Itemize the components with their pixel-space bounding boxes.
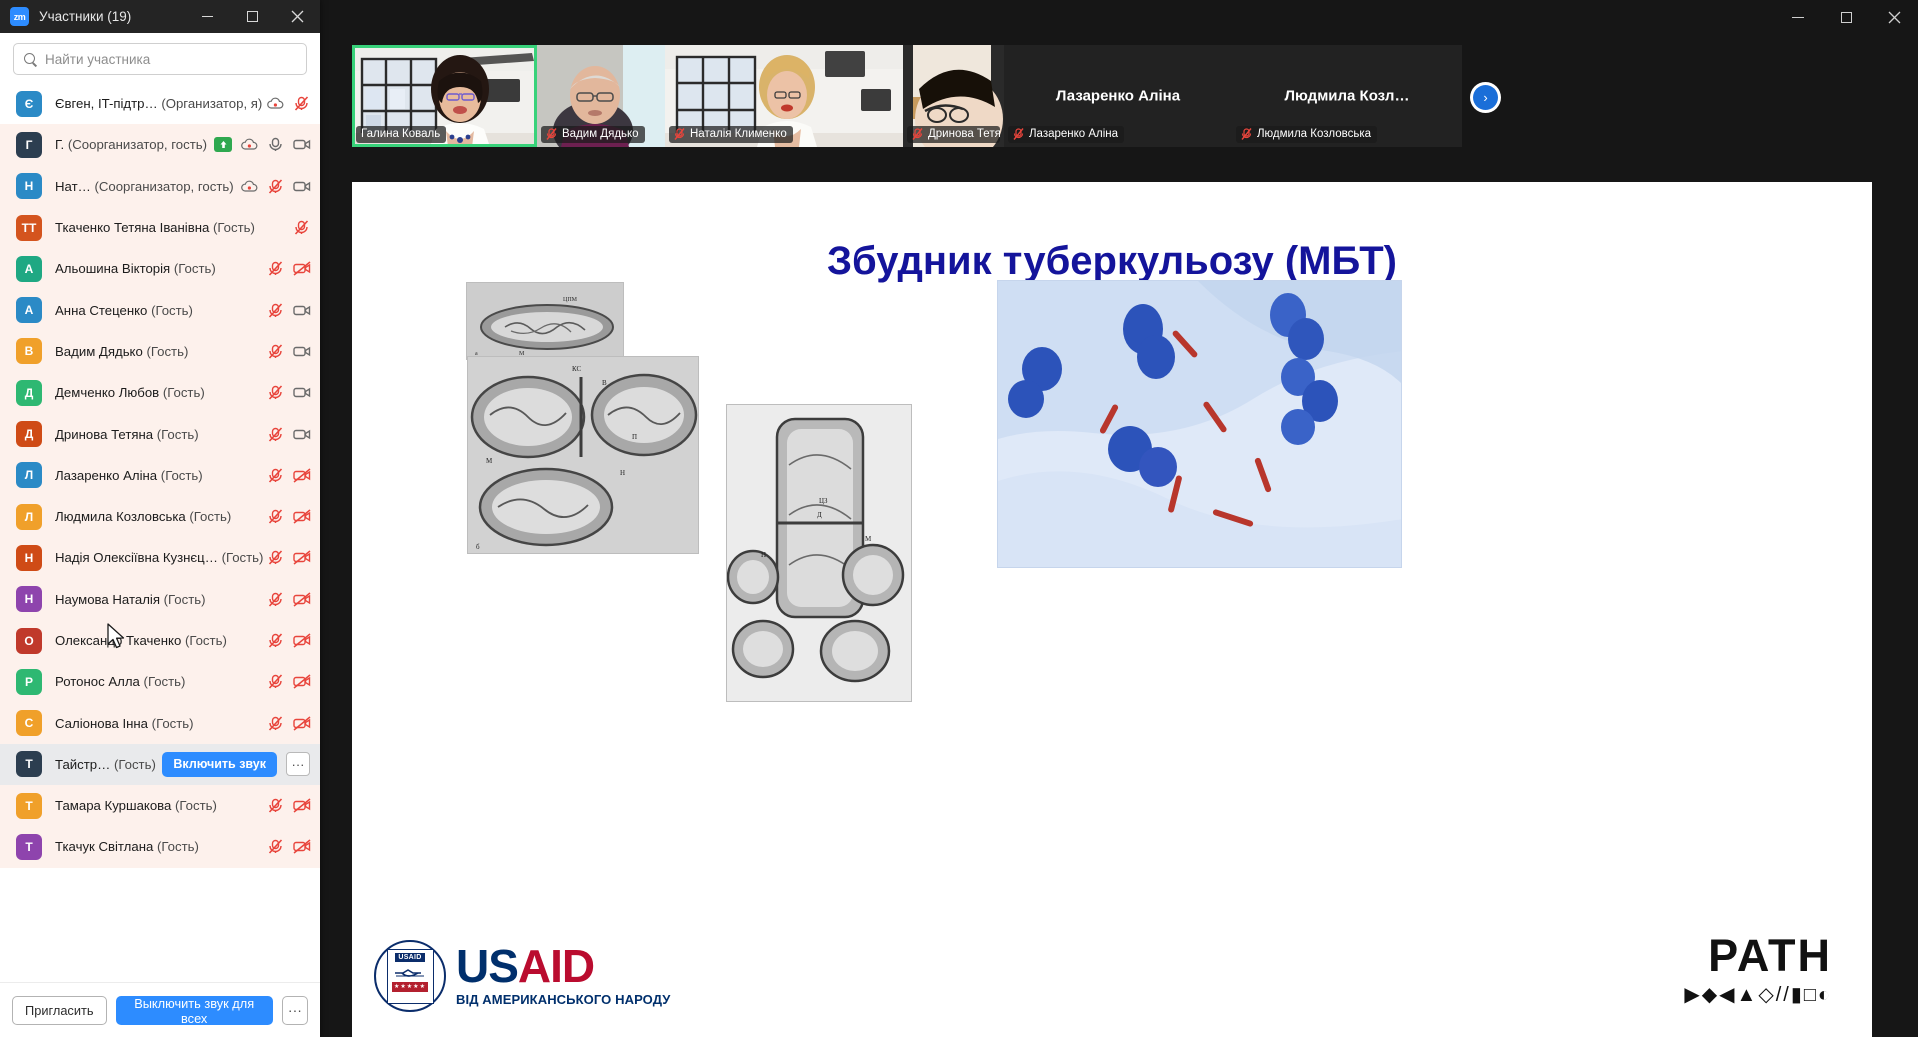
mic-muted-icon — [912, 128, 923, 140]
camera-off-icon[interactable] — [293, 261, 310, 276]
participant-row[interactable]: ЛЛюдмила Козловська (Гость) — [0, 496, 320, 537]
participant-status-icons — [267, 839, 310, 854]
participant-row[interactable]: ТТТкаченко Тетяна Іванівна (Гость) — [0, 207, 320, 248]
participant-avatar: Т — [16, 793, 42, 819]
usaid-word-us: US — [456, 940, 518, 992]
participant-status-icons — [267, 96, 310, 111]
participant-name: Ротонос Алла (Гость) — [55, 674, 185, 689]
participant-status-icons — [267, 261, 310, 276]
camera-off-icon[interactable] — [293, 798, 310, 813]
tile-name-label-2: Наталія Клименко — [669, 126, 793, 143]
usaid-wordmark: USAID — [456, 945, 670, 989]
participant-row[interactable]: ГГ. (Соорганизатор, гость) — [0, 124, 320, 165]
camera-off-icon[interactable] — [293, 550, 310, 565]
participant-status-icons — [267, 592, 310, 607]
participant-avatar: Н — [16, 173, 42, 199]
participant-status-icons — [267, 344, 310, 359]
video-tile-5[interactable]: Людмила Козл… Людмила Козловська — [1232, 45, 1462, 147]
participant-row[interactable]: ЄЄвген, IT-підтр… (Организатор, я) — [0, 83, 320, 124]
participant-name: Нат… (Соорганизатор, гость) — [55, 179, 234, 194]
participant-avatar: Л — [16, 504, 42, 530]
video-tile-0[interactable]: Галина Коваль — [352, 45, 537, 147]
participant-name: Лазаренко Аліна (Гость) — [55, 468, 203, 483]
camera-icon[interactable] — [293, 303, 310, 318]
participant-more-button[interactable]: ··· — [286, 752, 310, 776]
camera-off-icon[interactable] — [293, 468, 310, 483]
participant-avatar: Т — [16, 751, 42, 777]
mic-muted-icon[interactable] — [267, 179, 284, 194]
usaid-seal-stars: ★★★★★ — [392, 982, 428, 992]
unmute-button[interactable]: Включить звук — [162, 752, 277, 777]
mic-muted-icon[interactable] — [267, 592, 284, 607]
main-maximize-button[interactable] — [1822, 0, 1870, 34]
mic-muted-icon[interactable] — [293, 220, 310, 235]
participant-avatar: Т — [16, 834, 42, 860]
camera-off-icon[interactable] — [293, 509, 310, 524]
participant-avatar: ТТ — [16, 215, 42, 241]
participant-name: Г. (Соорганизатор, гость) — [55, 137, 207, 152]
svg-text:б: б — [476, 543, 480, 551]
camera-off-icon[interactable] — [293, 839, 310, 854]
mic-muted-icon[interactable] — [267, 427, 284, 442]
camera-icon[interactable] — [293, 385, 310, 400]
main-window-titlebar — [320, 0, 1918, 34]
participant-status-icons: Включить звук··· — [162, 752, 310, 777]
participant-name: Людмила Козловська (Гость) — [55, 509, 231, 524]
mic-muted-icon[interactable] — [267, 261, 284, 276]
participant-row[interactable]: ДДринова Тетяна (Гость) — [0, 413, 320, 454]
participant-avatar: Є — [16, 91, 42, 117]
screen-share-badge-icon — [214, 137, 232, 152]
participant-status-icons — [267, 303, 310, 318]
participant-name: Вадим Дядько (Гость) — [55, 344, 188, 359]
mic-muted-icon[interactable] — [267, 674, 284, 689]
path-symbols: ▶◆◀▲◇//▮□◐ — [1684, 982, 1832, 1007]
tile-display-name-5: Людмила Козл… — [1232, 88, 1462, 105]
zoom-logo-icon: zm — [10, 7, 29, 26]
participant-avatar: А — [16, 297, 42, 323]
chevron-right-icon: › — [1473, 85, 1498, 110]
camera-icon[interactable] — [293, 179, 310, 194]
micrograph-image-1: ЦПМ а М — [466, 282, 624, 360]
participants-titlebar: zm Участники (19) — [0, 0, 320, 33]
svg-text:Н: Н — [620, 469, 625, 477]
participant-row[interactable]: РРотонос Алла (Гость) — [0, 661, 320, 702]
participant-name: Демченко Любов (Гость) — [55, 385, 205, 400]
svg-text:В: В — [602, 379, 607, 387]
participant-name: Олександр Ткаченко (Гость) — [55, 633, 227, 648]
path-logo: PATH ▶◆◀▲◇//▮□◐ — [1684, 933, 1832, 1007]
path-wordmark: PATH — [1684, 933, 1832, 978]
mic-muted-icon — [1013, 128, 1024, 140]
participant-row[interactable]: ААльошина Вікторія (Гость) — [0, 248, 320, 289]
mic-muted-icon[interactable] — [267, 550, 284, 565]
video-filmstrip: Галина Коваль Вадим — [352, 45, 1462, 147]
video-tile-4[interactable]: Лазаренко Аліна Лазаренко Аліна — [1004, 45, 1232, 147]
participants-list[interactable]: ЄЄвген, IT-підтр… (Организатор, я)ГГ. (С… — [0, 83, 320, 982]
participant-name: Наумова Наталія (Гость) — [55, 592, 206, 607]
participant-status-icons — [241, 179, 310, 194]
mic-muted-icon — [546, 128, 557, 140]
participant-name: Анна Стеценко (Гость) — [55, 303, 193, 318]
tile-name-label-5: Людмила Козловська — [1236, 126, 1377, 143]
camera-off-icon[interactable] — [293, 592, 310, 607]
participant-status-icons — [267, 674, 310, 689]
camera-off-icon[interactable] — [293, 674, 310, 689]
mic-icon[interactable] — [267, 137, 284, 152]
participant-name: Ткаченко Тетяна Іванівна (Гость) — [55, 220, 255, 235]
participant-avatar: А — [16, 256, 42, 282]
participant-name: Євген, IT-підтр… (Организатор, я) — [55, 96, 262, 111]
participant-name: Тамара Куршакова (Гость) — [55, 798, 217, 813]
participant-row[interactable]: ННат… (Соорганизатор, гость) — [0, 166, 320, 207]
participant-avatar: Л — [16, 462, 42, 488]
participant-row[interactable]: ННадія Олексіївна Кузнєц… (Гость) — [0, 537, 320, 578]
participant-status-icons — [267, 716, 310, 731]
tile-display-name-4: Лазаренко Аліна — [1004, 88, 1232, 105]
usaid-logo: USAID ★★★★★ USAID ВІД АМЕРИКАНСЬКОГО НАР… — [374, 940, 670, 1012]
participant-avatar: О — [16, 628, 42, 654]
participants-title: Участники (19) — [39, 9, 131, 24]
participant-avatar: Н — [16, 586, 42, 612]
video-tile-1[interactable]: Вадим Дядько — [537, 45, 665, 147]
participant-row[interactable]: ССаліонова Інна (Гость) — [0, 702, 320, 743]
participant-avatar: С — [16, 710, 42, 736]
recording-cloud-icon — [241, 138, 258, 151]
mic-muted-icon — [674, 128, 685, 140]
participants-maximize-button[interactable] — [230, 0, 275, 33]
mic-muted-icon[interactable] — [267, 633, 284, 648]
mic-muted-icon[interactable] — [267, 839, 284, 854]
usaid-seal-icon: USAID ★★★★★ — [374, 940, 446, 1012]
participant-status-icons — [267, 509, 310, 524]
camera-icon[interactable] — [293, 344, 310, 359]
participant-avatar: Д — [16, 380, 42, 406]
svg-text:М: М — [486, 457, 493, 465]
mute-all-button[interactable]: Выключить звук для всех — [116, 996, 273, 1025]
micrograph-image-3: ЦЗ Д М Н — [726, 404, 912, 702]
search-box[interactable] — [13, 43, 307, 75]
participant-row[interactable]: ТТамара Куршакова (Гость) — [0, 785, 320, 826]
tile-name-label-4: Лазаренко Аліна — [1008, 126, 1124, 143]
svg-text:Д: Д — [817, 511, 822, 519]
participant-avatar: Д — [16, 421, 42, 447]
main-minimize-button[interactable] — [1774, 0, 1822, 34]
participants-footer: Пригласить Выключить звук для всех ··· — [0, 982, 320, 1037]
camera-off-icon[interactable] — [293, 633, 310, 648]
mic-muted-icon[interactable] — [267, 344, 284, 359]
shared-screen-slide: Збудник туберкульозу (МБТ) ЦПМ а М — [352, 182, 1872, 1037]
participant-status-icons — [267, 633, 310, 648]
svg-text:М: М — [865, 535, 872, 543]
usaid-word-aid: AID — [518, 940, 594, 992]
participant-avatar: Н — [16, 545, 42, 571]
participant-name: Саліонова Інна (Гость) — [55, 716, 194, 731]
participant-row[interactable]: ООлександр Ткаченко (Гость) — [0, 620, 320, 661]
svg-text:КС: КС — [572, 365, 581, 373]
svg-text:Н: Н — [761, 551, 766, 559]
participant-avatar: В — [16, 338, 42, 364]
tile-name-label-3: Дринова Тетяна — [907, 126, 1000, 143]
participants-more-options-button[interactable]: ··· — [282, 996, 308, 1025]
tile-name-label-0: Галина Коваль — [356, 126, 446, 143]
participant-name: Тайстр… (Гость) — [55, 757, 156, 772]
video-tile-2[interactable]: Наталія Клименко — [665, 45, 903, 147]
participant-row[interactable]: ННаумова Наталія (Гость) — [0, 579, 320, 620]
participant-avatar: Р — [16, 669, 42, 695]
participant-row[interactable]: ВВадим Дядько (Гость) — [0, 331, 320, 372]
participants-search-area — [0, 33, 320, 83]
mic-muted-icon[interactable] — [267, 385, 284, 400]
camera-icon[interactable] — [293, 137, 310, 152]
participants-minimize-button[interactable] — [185, 0, 230, 33]
invite-button[interactable]: Пригласить — [12, 996, 107, 1025]
participants-list-empty-space — [0, 868, 320, 982]
participant-name: Альошина Вікторія (Гость) — [55, 261, 216, 276]
participant-status-icons — [267, 385, 310, 400]
mic-muted-icon[interactable] — [267, 716, 284, 731]
video-tile-3[interactable]: Дринова Тетяна — [903, 45, 1004, 147]
mic-muted-icon[interactable] — [267, 303, 284, 318]
camera-icon[interactable] — [293, 427, 310, 442]
participant-status-icons — [267, 427, 310, 442]
participants-close-button[interactable] — [275, 0, 320, 33]
handshake-icon — [393, 964, 427, 980]
camera-off-icon[interactable] — [293, 716, 310, 731]
recording-cloud-icon — [241, 180, 258, 193]
svg-text:ЦПМ: ЦПМ — [563, 297, 578, 303]
micrograph-image-2: КС В П М Н б — [467, 356, 699, 554]
participant-avatar: Г — [16, 132, 42, 158]
mouse-cursor — [107, 623, 127, 650]
participant-name: Надія Олексіївна Кузнєц… (Гость) — [55, 550, 263, 565]
filmstrip-next-page-button[interactable]: › — [1470, 82, 1501, 113]
usaid-subtitle: ВІД АМЕРИКАНСЬКОГО НАРОДУ — [456, 992, 670, 1007]
search-icon — [24, 53, 37, 66]
usaid-seal-label: USAID — [395, 953, 424, 962]
ziehl-neelsen-stain-image — [997, 280, 1402, 568]
participant-status-icons — [267, 550, 310, 565]
slide-title: Збудник туберкульозу (МБТ) — [352, 239, 1872, 284]
participant-name: Ткачук Світлана (Гость) — [55, 839, 199, 854]
participant-row[interactable]: ТТайстр… (Гость)Включить звук··· — [0, 744, 320, 785]
participant-row[interactable]: ТТкачук Світлана (Гость) — [0, 826, 320, 867]
mic-muted-icon[interactable] — [293, 96, 310, 111]
svg-text:ЦЗ: ЦЗ — [819, 497, 828, 505]
participant-status-icons — [267, 468, 310, 483]
participant-status-icons — [214, 137, 310, 152]
participant-status-icons — [267, 798, 310, 813]
participant-row[interactable]: ААнна Стеценко (Гость) — [0, 289, 320, 330]
main-close-button[interactable] — [1870, 0, 1918, 34]
mic-muted-icon[interactable] — [267, 798, 284, 813]
participant-name: Дринова Тетяна (Гость) — [55, 427, 199, 442]
mic-muted-icon[interactable] — [267, 509, 284, 524]
tile-name-label-1: Вадим Дядько — [541, 126, 645, 143]
recording-cloud-icon — [267, 97, 284, 110]
svg-text:П: П — [632, 433, 637, 441]
participant-status-icons — [293, 220, 310, 235]
participant-row[interactable]: ЛЛазаренко Аліна (Гость) — [0, 455, 320, 496]
mic-muted-icon[interactable] — [267, 468, 284, 483]
mic-muted-icon — [1241, 128, 1252, 140]
search-input[interactable] — [45, 52, 296, 67]
participant-row[interactable]: ДДемченко Любов (Гость) — [0, 372, 320, 413]
participants-panel: zm Участники (19) ЄЄвген, IT-підтр… (Орг… — [0, 0, 320, 1037]
